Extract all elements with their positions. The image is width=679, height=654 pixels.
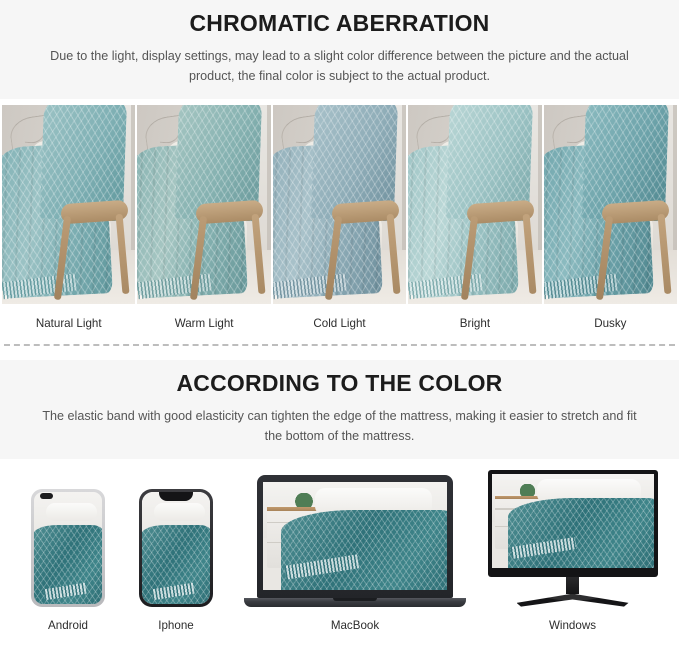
device-mockup-iphone[interactable] (122, 489, 230, 607)
macbook-lid (257, 475, 453, 598)
product-photo-warm-light[interactable] (137, 105, 270, 304)
chair-scene (273, 105, 406, 304)
blanket-fringe (2, 273, 77, 299)
photo-label-bright: Bright (408, 304, 541, 330)
section-divider (4, 344, 675, 346)
device-mockup-windows[interactable] (480, 470, 665, 607)
lighting-photo-cell[interactable]: Dusky (544, 105, 677, 330)
chair-scene (408, 105, 541, 304)
device-label-android: Android (14, 619, 122, 632)
pillows (154, 503, 204, 521)
device-label-macbook: MacBook (230, 619, 480, 632)
bedroom-scene (263, 482, 447, 590)
bedroom-scene (142, 492, 210, 604)
monitor-screen (492, 474, 654, 568)
plant-icon (517, 484, 538, 496)
product-photo-natural-light[interactable] (2, 105, 135, 304)
lighting-photo-row: Natural Light (0, 105, 679, 330)
plant-icon (292, 493, 316, 507)
device-label-row: Android Iphone MacBook Windows (0, 619, 679, 632)
photo-label-cold-light: Cold Light (273, 304, 406, 330)
according-to-the-color-section: ACCORDING TO THE COLOR The elastic band … (0, 360, 679, 632)
product-detail-page: CHROMATIC ABERRATION Due to the light, d… (0, 0, 679, 654)
android-screen (34, 492, 102, 604)
camera-icon (40, 493, 53, 499)
macbook-hinge-notch (333, 598, 377, 601)
according-to-the-color-description: The elastic band with good elasticity ca… (0, 397, 679, 459)
lighting-photo-cell[interactable]: Bright (408, 105, 541, 330)
lighting-photo-cell[interactable]: Cold Light (273, 105, 406, 330)
photo-label-dusky: Dusky (544, 304, 677, 330)
device-label-iphone: Iphone (122, 619, 230, 632)
pillows (46, 503, 96, 521)
product-photo-dusky[interactable] (544, 105, 677, 304)
monitor-stand-foot (517, 594, 629, 607)
chromatic-aberration-section: CHROMATIC ABERRATION Due to the light, d… (0, 0, 679, 346)
device-mockup-macbook[interactable] (230, 475, 480, 607)
product-photo-bright[interactable] (408, 105, 541, 304)
device-mockup-android[interactable] (14, 489, 122, 607)
blanket-fringe (544, 273, 619, 299)
chromatic-aberration-description: Due to the light, display settings, may … (0, 37, 679, 99)
nightstand-top (267, 507, 322, 510)
chair-scene (137, 105, 270, 304)
macbook-base (244, 598, 466, 607)
device-mockup-row (0, 459, 679, 607)
iphone-frame (139, 489, 213, 607)
section-title: ACCORDING TO THE COLOR (0, 360, 679, 397)
monitor-bezel (488, 470, 658, 577)
teal-blanket (281, 510, 447, 590)
bedroom-scene (492, 474, 654, 568)
macbook-frame (244, 475, 466, 607)
monitor-neck (566, 577, 579, 594)
device-label-windows: Windows (480, 619, 665, 632)
according-to-the-color-header: ACCORDING TO THE COLOR The elastic band … (0, 360, 679, 459)
photo-label-warm-light: Warm Light (137, 304, 270, 330)
iphone-screen (142, 492, 210, 604)
notch-icon (159, 492, 193, 501)
monitor-frame (488, 470, 658, 607)
teal-blanket (508, 498, 654, 568)
lighting-photo-cell[interactable]: Natural Light (2, 105, 135, 330)
product-photo-cold-light[interactable] (273, 105, 406, 304)
macbook-screen (263, 482, 447, 590)
chromatic-aberration-header: CHROMATIC ABERRATION Due to the light, d… (0, 0, 679, 99)
blanket-fringe (408, 273, 483, 299)
android-phone-frame (31, 489, 105, 607)
blanket-fringe (273, 273, 348, 299)
bedroom-scene (34, 492, 102, 604)
photo-label-natural-light: Natural Light (2, 304, 135, 330)
page-title: CHROMATIC ABERRATION (0, 0, 679, 37)
chair-scene (544, 105, 677, 304)
blanket-fringe (137, 273, 212, 299)
lighting-photo-cell[interactable]: Warm Light (137, 105, 270, 330)
nightstand-top (495, 496, 544, 499)
chair-scene (2, 105, 135, 304)
